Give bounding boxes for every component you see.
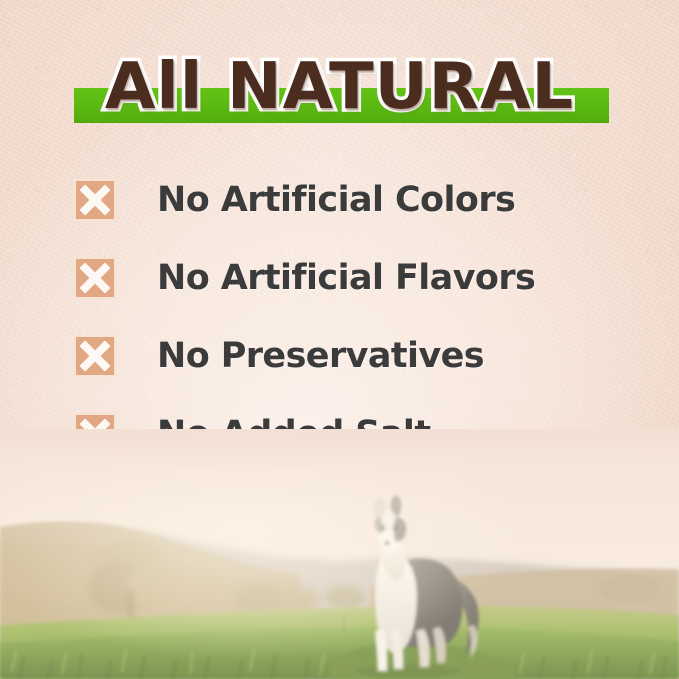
x-mark-icon [74,179,116,221]
all-natural-poster: All NATURAL No Artificial Colors No Arti… [0,0,679,679]
claim-label: No Artificial Colors [157,181,515,219]
headline-block: All NATURAL [0,47,679,131]
photo-illustration [0,429,679,679]
claim-label: No Artificial Flavors [157,259,535,297]
list-item: No Artificial Colors [74,178,614,222]
claim-label: No Preservatives [157,337,484,375]
x-mark-icon [74,335,116,377]
page-title: All NATURAL [0,47,679,127]
dog-landscape-photo [0,429,679,679]
list-item: No Artificial Flavors [74,256,614,300]
x-mark-icon [74,257,116,299]
list-item: No Preservatives [74,334,614,378]
